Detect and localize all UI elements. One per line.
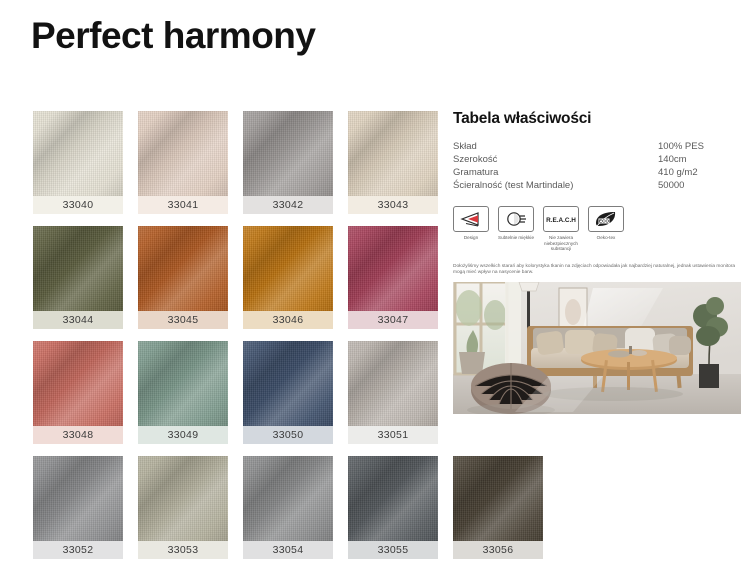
swatch-code-label: 33055 <box>348 541 438 559</box>
swatch-fabric-image <box>348 341 438 426</box>
spec-table-title: Tabela właściwości <box>453 110 741 128</box>
swatch-weave-texture <box>453 456 543 541</box>
swatch-weave-texture <box>243 456 333 541</box>
interior-room-illustration <box>453 282 741 414</box>
fabric-swatch[interactable]: 33052 <box>33 456 123 559</box>
specification-panel: Tabela właściwości Skład100% PESSzerokoś… <box>453 110 741 295</box>
swatch-weave-texture <box>33 456 123 541</box>
badge-caption: Nie zawiera niebezpiecznych substancji <box>543 235 579 252</box>
swatch-code-label: 33053 <box>138 541 228 559</box>
swatch-weave-texture <box>348 341 438 426</box>
spec-key: Ścieralność (test Martindale) <box>453 179 658 192</box>
spec-key: Skład <box>453 140 658 153</box>
swatch-weave-texture <box>138 341 228 426</box>
certification-badge: Subtelnie miękkie <box>498 206 534 252</box>
spec-table: Skład100% PESSzerokość140cmGramatura410 … <box>453 140 741 192</box>
swatch-fabric-image <box>33 111 123 196</box>
fabric-swatch[interactable]: 33046 <box>243 226 333 329</box>
spec-value: 50000 <box>658 179 741 192</box>
svg-text:R.E.A.C.H: R.E.A.C.H <box>546 217 576 224</box>
certification-badge: ECOOeko-tex <box>588 206 624 252</box>
badge-caption: Design <box>453 235 489 241</box>
certification-badge: Design <box>453 206 489 252</box>
swatch-weave-texture <box>348 226 438 311</box>
fabric-swatch[interactable]: 33047 <box>348 226 438 329</box>
badge-caption: Subtelnie miękkie <box>498 235 534 241</box>
swatch-fabric-image <box>138 341 228 426</box>
fabric-swatch[interactable]: 33043 <box>348 111 438 214</box>
swatch-fabric-image <box>453 456 543 541</box>
swatch-weave-texture <box>33 226 123 311</box>
spec-value: 100% PES <box>658 140 741 153</box>
spec-row: Skład100% PES <box>453 140 741 153</box>
fabric-swatch[interactable]: 33051 <box>348 341 438 444</box>
swatch-code-label: 33054 <box>243 541 333 559</box>
soft-touch-icon <box>498 206 534 232</box>
swatch-code-label: 33056 <box>453 541 543 559</box>
badge-caption: Oeko-tex <box>588 235 624 241</box>
fabric-swatch-grid: 3304033041330423304333044330453304633047… <box>33 111 433 571</box>
swatch-code-label: 33049 <box>138 426 228 444</box>
eco-leaf-icon: ECO <box>588 206 624 232</box>
swatch-row: 33044330453304633047 <box>33 226 433 329</box>
spec-key: Gramatura <box>453 166 658 179</box>
fabric-swatch[interactable]: 33042 <box>243 111 333 214</box>
swatch-row: 3305233053330543305533056 <box>33 456 433 559</box>
spec-row: Ścieralność (test Martindale)50000 <box>453 179 741 192</box>
swatch-fabric-image <box>138 456 228 541</box>
interior-room-photo <box>453 282 741 414</box>
swatch-code-label: 33051 <box>348 426 438 444</box>
swatch-weave-texture <box>138 226 228 311</box>
swatch-weave-texture <box>243 341 333 426</box>
swatch-code-label: 33052 <box>33 541 123 559</box>
spec-key: Szerokość <box>453 153 658 166</box>
swatch-row: 33040330413304233043 <box>33 111 433 214</box>
swatch-row: 33048330493305033051 <box>33 341 433 444</box>
swatch-code-label: 33046 <box>243 311 333 329</box>
fabric-swatch[interactable]: 33040 <box>33 111 123 214</box>
swatch-weave-texture <box>138 456 228 541</box>
disclaimer-paragraph-1: Dołożyliśmy wszelkich starań aby kolorys… <box>453 264 737 277</box>
swatch-fabric-image <box>33 226 123 311</box>
swatch-fabric-image <box>138 226 228 311</box>
swatch-weave-texture <box>348 111 438 196</box>
certification-badges: DesignSubtelnie miękkieR.E.A.C.HNie zawi… <box>453 206 741 252</box>
swatch-code-label: 33043 <box>348 196 438 214</box>
swatch-fabric-image <box>243 341 333 426</box>
swatch-fabric-image <box>348 456 438 541</box>
spec-row: Gramatura410 g/m2 <box>453 166 741 179</box>
swatch-fabric-image <box>243 226 333 311</box>
page-title: Perfect harmony <box>31 13 316 59</box>
fabric-swatch[interactable]: 33056 <box>453 456 543 559</box>
design-arrow-icon <box>453 206 489 232</box>
swatch-weave-texture <box>348 456 438 541</box>
swatch-fabric-image <box>33 456 123 541</box>
swatch-weave-texture <box>243 111 333 196</box>
swatch-fabric-image <box>243 456 333 541</box>
swatch-code-label: 33040 <box>33 196 123 214</box>
spec-row: Szerokość140cm <box>453 153 741 166</box>
swatch-weave-texture <box>33 341 123 426</box>
swatch-fabric-image <box>138 111 228 196</box>
swatch-fabric-image <box>33 341 123 426</box>
spec-value: 410 g/m2 <box>658 166 741 179</box>
fabric-swatch[interactable]: 33049 <box>138 341 228 444</box>
fabric-swatch[interactable]: 33055 <box>348 456 438 559</box>
certification-badge: R.E.A.C.HNie zawiera niebezpiecznych sub… <box>543 206 579 252</box>
swatch-fabric-image <box>348 226 438 311</box>
swatch-code-label: 33045 <box>138 311 228 329</box>
swatch-code-label: 33048 <box>33 426 123 444</box>
fabric-swatch[interactable]: 33045 <box>138 226 228 329</box>
swatch-code-label: 33041 <box>138 196 228 214</box>
swatch-weave-texture <box>243 226 333 311</box>
swatch-weave-texture <box>33 111 123 196</box>
reach-icon: R.E.A.C.H <box>543 206 579 232</box>
fabric-swatch[interactable]: 33053 <box>138 456 228 559</box>
fabric-swatch[interactable]: 33054 <box>243 456 333 559</box>
fabric-swatch[interactable]: 33048 <box>33 341 123 444</box>
swatch-weave-texture <box>138 111 228 196</box>
fabric-swatch[interactable]: 33050 <box>243 341 333 444</box>
fabric-swatch[interactable]: 33041 <box>138 111 228 214</box>
swatch-code-label: 33050 <box>243 426 333 444</box>
swatch-fabric-image <box>243 111 333 196</box>
swatch-code-label: 33044 <box>33 311 123 329</box>
spec-value: 140cm <box>658 153 741 166</box>
fabric-swatch[interactable]: 33044 <box>33 226 123 329</box>
swatch-code-label: 33042 <box>243 196 333 214</box>
swatch-fabric-image <box>348 111 438 196</box>
swatch-code-label: 33047 <box>348 311 438 329</box>
svg-text:ECO: ECO <box>599 219 609 224</box>
